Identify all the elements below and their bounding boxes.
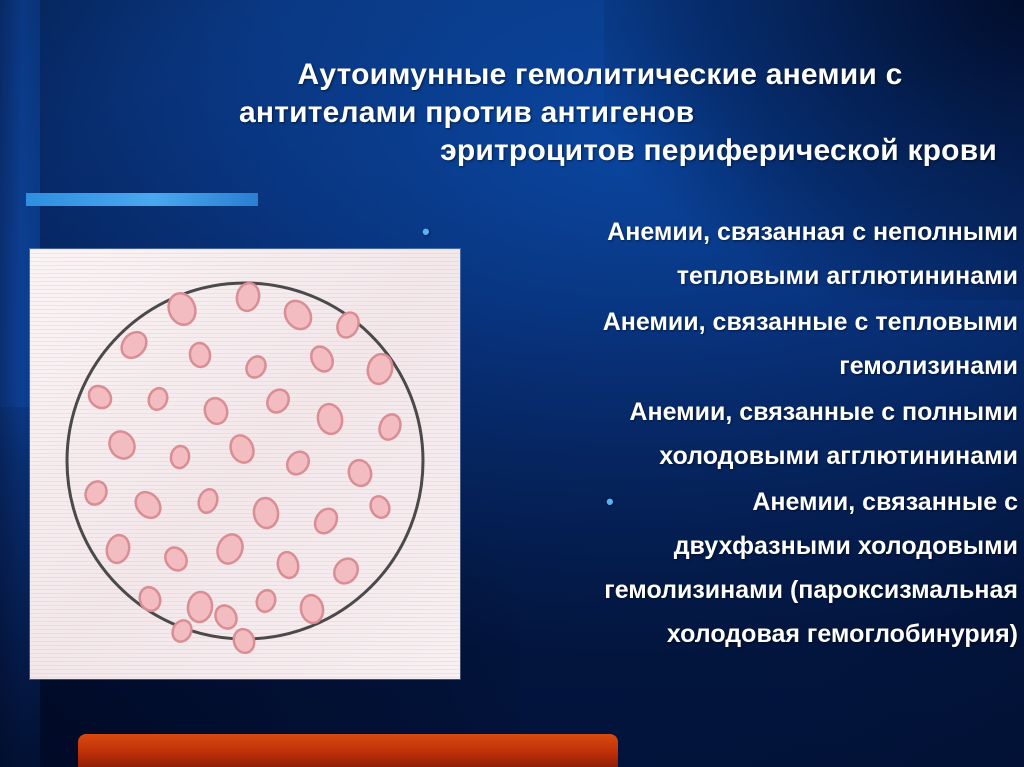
bottom-accent-bar (78, 734, 618, 767)
title-line-2: антителами против антигенов (195, 94, 1005, 132)
bullet-item-1: • Анемии, связанная с неполными тепловым… (410, 210, 1018, 298)
slide: Аутоимунные гемолитические анемии с анти… (0, 0, 1024, 767)
bullet-item-4: • Анемии, связанные с двухфазными холодо… (410, 480, 1018, 656)
bullet-item-1-line-1: Анемии, связанная с неполными (410, 210, 1018, 254)
bullet-marker-icon-2: • (606, 480, 614, 524)
bullet-item-4-line-1: Анемии, связанные с (410, 480, 1018, 524)
accent-bar (26, 193, 258, 206)
title-line-3: эритроцитов периферической крови (195, 132, 1005, 170)
micrograph-cells (30, 249, 460, 679)
slide-title: Аутоимунные гемолитические анемии с анти… (195, 56, 1005, 170)
bullet-item-2-line-2: гемолизинами (410, 344, 1018, 388)
title-line-1: Аутоимунные гемолитические анемии с (195, 56, 1005, 94)
bullet-item-1-line-2: тепловыми агглютининами (410, 254, 1018, 298)
bullet-marker-icon: • (422, 210, 430, 254)
bullet-item-2: Анемии, связанные с тепловыми гемолизина… (410, 300, 1018, 388)
bullet-item-4-line-3: гемолизинами (пароксизмальная (410, 568, 1018, 612)
bullet-item-3: Анемии, связанные с полными холодовыми а… (410, 390, 1018, 478)
bullet-item-2-line-1: Анемии, связанные с тепловыми (410, 300, 1018, 344)
bullet-item-3-line-2: холодовыми агглютининами (410, 434, 1018, 478)
bullet-item-4-line-2: двухфазными холодовыми (410, 524, 1018, 568)
blood-smear-micrograph (30, 249, 460, 679)
slide-body: • Анемии, связанная с неполными тепловым… (410, 210, 1018, 656)
bullet-item-3-line-1: Анемии, связанные с полными (410, 390, 1018, 434)
bullet-item-4-line-4: холодовая гемоглобинурия) (410, 612, 1018, 656)
